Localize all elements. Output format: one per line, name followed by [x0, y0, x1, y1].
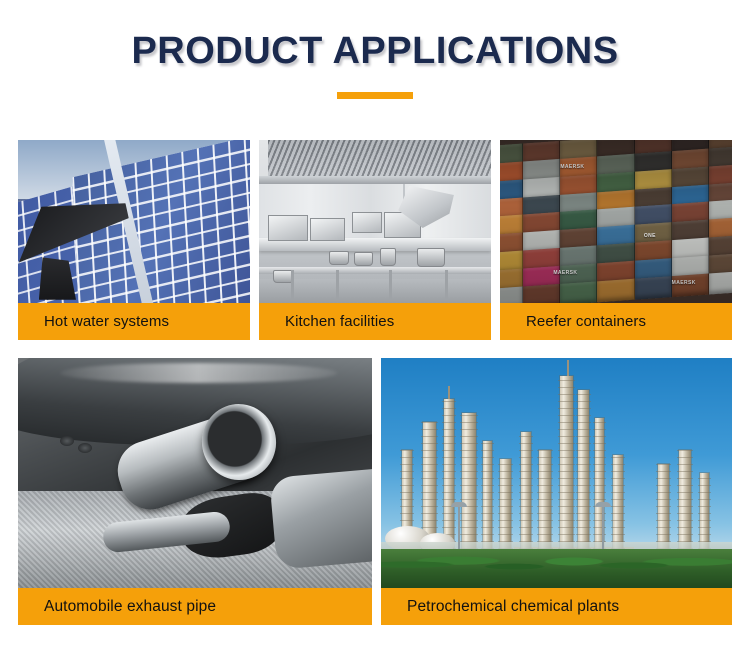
- applications-grid: Hot water systems: [18, 140, 732, 625]
- tower-vent-stack: [567, 360, 569, 376]
- card-caption: Petrochemical chemical plants: [381, 588, 732, 625]
- title-underline-rule: [337, 92, 413, 99]
- photo-tint-overlay: [500, 140, 732, 303]
- distillation-tower: [560, 376, 573, 555]
- shipping-containers-photo: MAERSK ONE MAERSK MAERSK: [500, 140, 732, 303]
- kitchen-table-leg-b: [336, 270, 339, 299]
- kitchen-photo: [259, 140, 491, 303]
- chassis-bolt: [78, 443, 92, 453]
- application-card-kitchen-facilities[interactable]: Kitchen facilities: [259, 140, 491, 340]
- kitchen-microwave: [352, 212, 382, 233]
- application-card-petrochemical-chemical-plants[interactable]: Petrochemical chemical plants: [381, 358, 732, 625]
- distillation-tower: [483, 441, 492, 556]
- chassis-bolt: [60, 436, 74, 446]
- application-card-automobile-exhaust-pipe[interactable]: Automobile exhaust pipe: [18, 358, 372, 625]
- kitchen-stock-pot-c: [380, 248, 396, 266]
- distillation-tower: [462, 413, 476, 556]
- applications-row-2: Automobile exhaust pipe: [18, 358, 732, 625]
- kitchen-stock-pot-d: [417, 248, 445, 268]
- kitchen-table-leg-c: [389, 270, 392, 299]
- product-applications-page: PRODUCT APPLICATIONS Hot water systems: [0, 0, 750, 668]
- page-header: PRODUCT APPLICATIONS: [0, 0, 750, 99]
- kitchen-table-leg-a: [291, 270, 294, 299]
- card-caption: Automobile exhaust pipe: [18, 588, 372, 625]
- underbody-highlight: [60, 363, 336, 384]
- distillation-tower: [521, 432, 531, 556]
- petrochemical-plant-photo: [381, 358, 732, 588]
- kitchen-stock-pot-b: [354, 252, 373, 265]
- page-title: PRODUCT APPLICATIONS: [0, 32, 750, 72]
- automobile-exhaust-photo: [18, 358, 372, 588]
- distillation-tower: [613, 455, 623, 556]
- card-caption: Hot water systems: [18, 303, 250, 340]
- kitchen-table-leg-d: [445, 270, 448, 299]
- card-caption: Reefer containers: [500, 303, 732, 340]
- kitchen-oven-unit: [310, 218, 345, 241]
- distillation-tower: [679, 450, 691, 556]
- application-card-reefer-containers[interactable]: MAERSK ONE MAERSK MAERSK Reefer containe…: [500, 140, 732, 340]
- tree-line: [381, 549, 732, 588]
- muffler-body: [269, 468, 372, 570]
- kitchen-range-unit: [268, 215, 307, 241]
- applications-row-1: Hot water systems: [18, 140, 732, 340]
- solar-panel-photo: [18, 140, 250, 303]
- card-caption: Kitchen facilities: [259, 303, 491, 340]
- application-card-hot-water-systems[interactable]: Hot water systems: [18, 140, 250, 340]
- kitchen-hood-lip: [259, 176, 491, 184]
- tower-vent-stack: [448, 386, 450, 400]
- kitchen-extraction-hood: [268, 140, 491, 179]
- distillation-tower: [578, 390, 589, 556]
- kitchen-stock-pot-a: [329, 251, 350, 266]
- distillation-tower: [444, 399, 454, 555]
- distillation-tower: [539, 450, 551, 556]
